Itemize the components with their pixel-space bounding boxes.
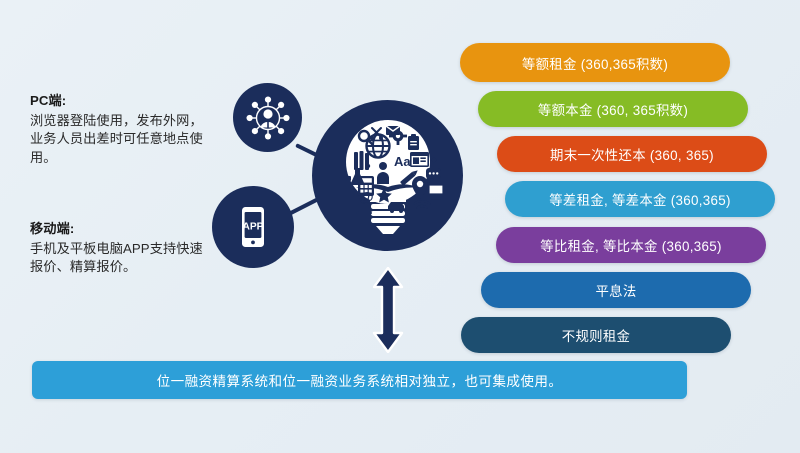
slide-canvas: PC端: 浏览器登陆使用，发布外网，业务人员出差时可任意地点使用。 移动端: 手… <box>0 0 800 453</box>
payment-method-pill-label: 期末一次性还本 (360, 365) <box>550 144 714 164</box>
bottom-banner-text: 位一融资精算系统和位一融资业务系统相对独立，也可集成使用。 <box>157 370 563 390</box>
payment-method-pill[interactable]: 等额本金 (360, 365积数) <box>478 91 748 127</box>
payment-method-pill-label: 等差租金, 等差本金 (360,365) <box>549 189 731 209</box>
payment-method-pill[interactable]: 等额租金 (360,365积数) <box>460 43 730 82</box>
payment-method-pill-label: 平息法 <box>595 280 636 300</box>
payment-method-pill[interactable]: 等差租金, 等差本金 (360,365) <box>505 181 775 217</box>
payment-method-pill[interactable]: 等比租金, 等比本金 (360,365) <box>496 227 766 263</box>
payment-method-pill[interactable]: 期末一次性还本 (360, 365) <box>497 136 767 172</box>
payment-method-pill[interactable]: 平息法 <box>481 272 751 308</box>
payment-method-pill-label: 不规则租金 <box>562 325 630 345</box>
payment-method-pill-label: 等比租金, 等比本金 (360,365) <box>540 235 722 255</box>
payment-method-pill[interactable]: 不规则租金 <box>461 317 731 353</box>
bottom-summary-banner: 位一融资精算系统和位一融资业务系统相对独立，也可集成使用。 <box>32 361 687 399</box>
payment-method-pill-label: 等额租金 (360,365积数) <box>522 53 668 73</box>
payment-method-pill-label: 等额本金 (360, 365积数) <box>538 99 688 119</box>
